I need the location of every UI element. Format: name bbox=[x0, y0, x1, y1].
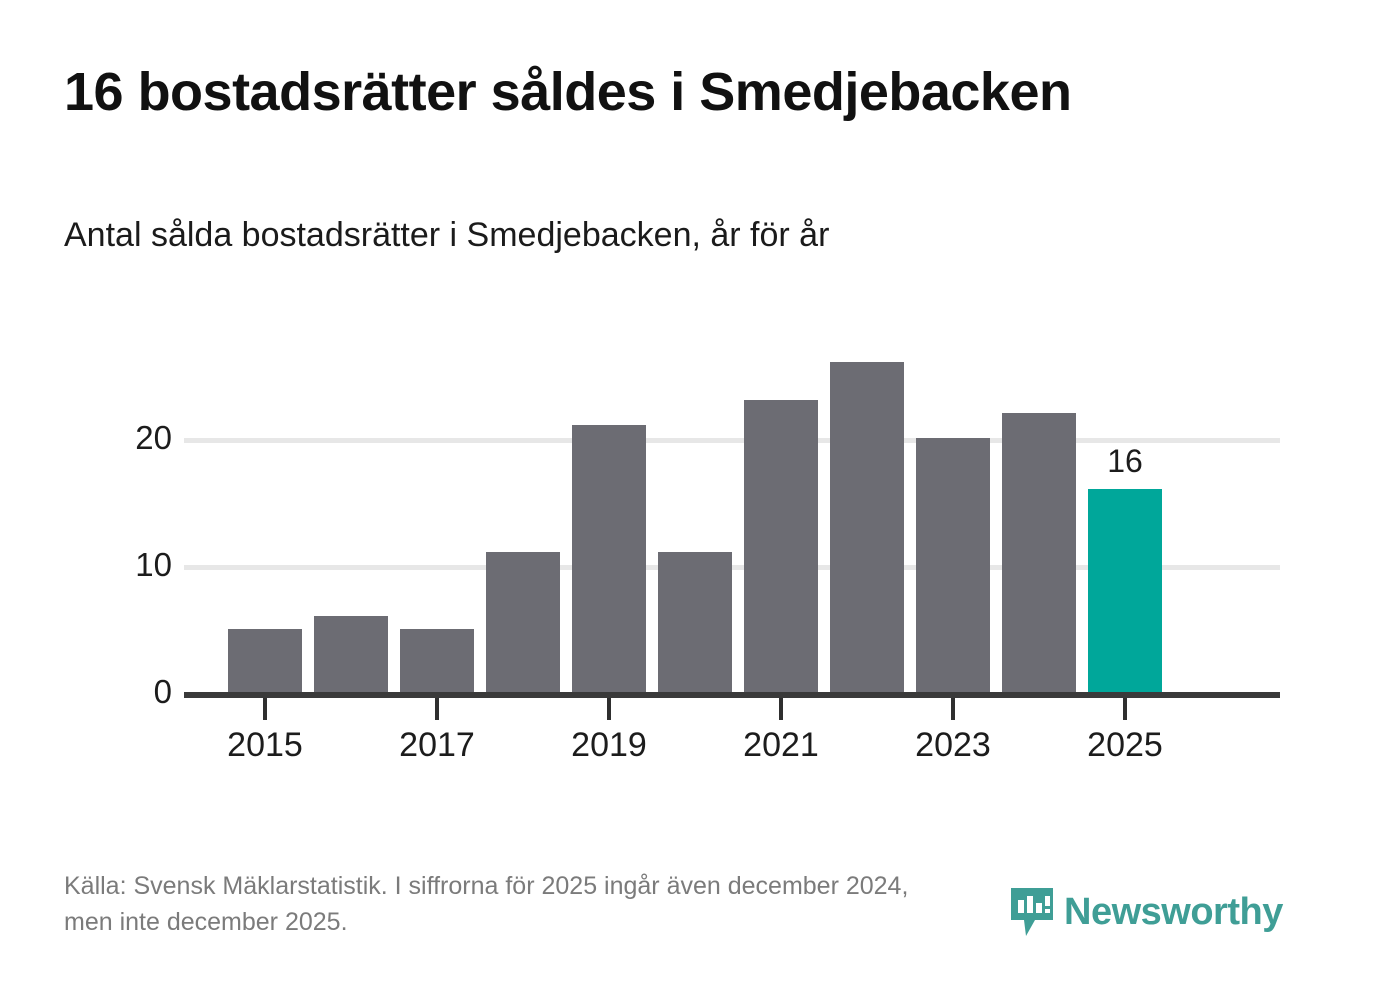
bar-chart: 0102016201520172019202120232025 bbox=[0, 0, 1382, 999]
y-axis-tick-label: 10 bbox=[52, 548, 172, 581]
bar-2015[interactable] bbox=[228, 629, 302, 693]
x-axis-tick-label-2019: 2019 bbox=[529, 728, 689, 762]
plot-area: 0102016201520172019202120232025 bbox=[184, 340, 1280, 696]
bar-2019[interactable] bbox=[572, 425, 646, 692]
x-axis-line bbox=[184, 692, 1280, 698]
bar-2021[interactable] bbox=[744, 400, 818, 692]
x-axis-tick bbox=[263, 698, 267, 720]
x-axis-tick bbox=[1123, 698, 1127, 720]
y-axis-tick-label: 0 bbox=[52, 675, 172, 708]
bar-2018[interactable] bbox=[486, 552, 560, 692]
x-axis-tick-label-2025: 2025 bbox=[1045, 728, 1205, 762]
x-axis-tick-label-2023: 2023 bbox=[873, 728, 1033, 762]
x-axis-tick bbox=[607, 698, 611, 720]
bar-2022[interactable] bbox=[830, 362, 904, 692]
bar-2020[interactable] bbox=[658, 552, 732, 692]
x-axis-tick bbox=[951, 698, 955, 720]
bar-2025[interactable] bbox=[1088, 489, 1162, 692]
logo-wordmark: Newsworthy bbox=[1064, 893, 1283, 931]
x-axis-tick-label-2021: 2021 bbox=[701, 728, 861, 762]
x-axis-tick-label-2017: 2017 bbox=[357, 728, 517, 762]
x-axis-tick bbox=[435, 698, 439, 720]
bar-2023[interactable] bbox=[916, 438, 990, 692]
bar-2016[interactable] bbox=[314, 616, 388, 692]
y-axis-tick-label: 20 bbox=[52, 421, 172, 454]
chart-page: 16 bostadsrätter såldes i Smedjebacken A… bbox=[0, 0, 1382, 999]
x-axis-tick bbox=[779, 698, 783, 720]
bar-value-label: 16 bbox=[1065, 445, 1185, 477]
newsworthy-logo: Newsworthy bbox=[1009, 886, 1283, 938]
x-axis-tick-label-2015: 2015 bbox=[185, 728, 345, 762]
bar-2017[interactable] bbox=[400, 629, 474, 693]
newsworthy-bars-bubble-icon bbox=[1009, 886, 1055, 938]
